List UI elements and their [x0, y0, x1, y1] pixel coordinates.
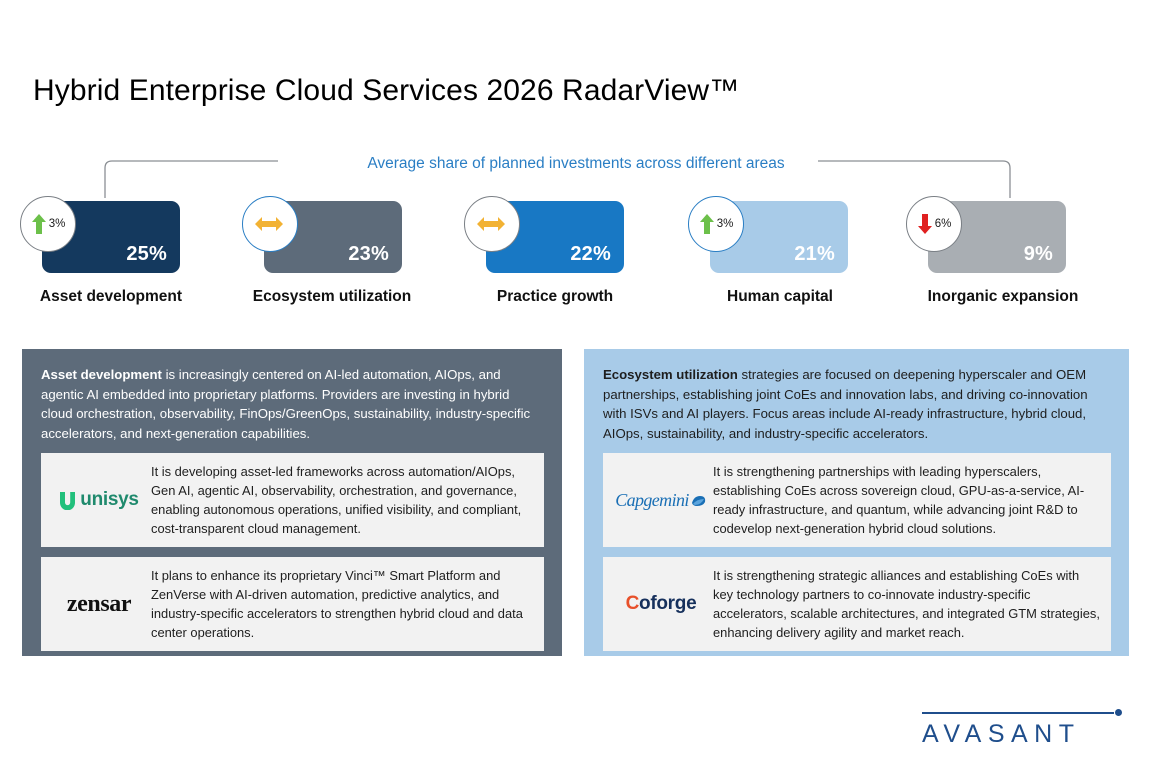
panel-heading: Asset development: [41, 367, 162, 382]
capgemini-logo: Capgemini: [609, 490, 713, 511]
provider-card-capgemini[interactable]: Capgemini It is strengthening partnershi…: [603, 453, 1111, 547]
provider-card-text: It is strengthening partnerships with le…: [713, 462, 1101, 538]
avasant-dot-icon: [1115, 709, 1122, 716]
arrow-down-icon: [917, 213, 933, 235]
unisys-logo: unisys: [47, 489, 151, 511]
avasant-logo: AVASANT: [912, 706, 1130, 754]
bar-value: 9%: [1024, 243, 1066, 273]
bracket-caption: Average share of planned investments acr…: [0, 155, 1152, 173]
unisys-mark-icon: [59, 491, 76, 510]
slide-canvas: Hybrid Enterprise Cloud Services 2026 Ra…: [0, 0, 1152, 768]
bar-label-asset-development: Asset development: [20, 288, 202, 306]
capgemini-swoosh-icon: [690, 493, 707, 508]
provider-card-zensar[interactable]: zensar It plans to enhance its proprieta…: [41, 557, 544, 651]
provider-card-text: It plans to enhance its proprietary Vinc…: [151, 566, 534, 642]
avasant-rule: [922, 712, 1114, 714]
page-title: Hybrid Enterprise Cloud Services 2026 Ra…: [33, 74, 739, 108]
arrow-up-icon: [699, 213, 715, 235]
bar-label-ecosystem-utilization: Ecosystem utilization: [241, 288, 423, 306]
panel-heading: Ecosystem utilization: [603, 367, 738, 382]
zensar-logo: zensar: [47, 591, 151, 618]
bar-value: 25%: [126, 243, 180, 273]
avasant-wordmark: AVASANT: [922, 720, 1122, 749]
bar-label-inorganic-expansion: Inorganic expansion: [912, 288, 1094, 306]
delta-badge-inorganic-expansion: 6%: [906, 196, 962, 252]
arrow-up-icon: [31, 213, 47, 235]
delta-label: 3%: [717, 218, 734, 230]
zensar-wordmark: zensar: [67, 591, 131, 618]
delta-label: 3%: [49, 218, 66, 230]
delta-badge-ecosystem-utilization: [242, 196, 298, 252]
bar-value: 23%: [348, 243, 402, 273]
provider-card-coforge[interactable]: Coforge It is strengthening strategic al…: [603, 557, 1111, 651]
arrow-left-right-icon: [254, 215, 284, 233]
coforge-logo: Coforge: [609, 593, 713, 615]
panel-intro: Ecosystem utilization strategies are foc…: [596, 361, 1117, 443]
panel-intro: Asset development is increasingly center…: [34, 361, 550, 443]
unisys-wordmark: unisys: [80, 489, 138, 511]
provider-card-text: It is developing asset-led frameworks ac…: [151, 462, 534, 538]
bar-label-human-capital: Human capital: [689, 288, 871, 306]
coforge-wordmark-c: C: [626, 593, 639, 614]
capgemini-wordmark: Capgemini: [615, 490, 689, 511]
provider-card-unisys[interactable]: unisys It is developing asset-led framew…: [41, 453, 544, 547]
bar-value: 21%: [794, 243, 848, 273]
panel-ecosystem-utilization: Ecosystem utilization strategies are foc…: [584, 349, 1129, 656]
delta-label: 6%: [935, 218, 952, 230]
provider-card-text: It is strengthening strategic alliances …: [713, 566, 1101, 642]
delta-badge-human-capital: 3%: [688, 196, 744, 252]
coforge-wordmark-rest: oforge: [639, 593, 696, 614]
delta-badge-asset-development: 3%: [20, 196, 76, 252]
investment-bar-chart: 25% 3% Asset development 23% Ecosystem u: [0, 196, 1152, 316]
arrow-left-right-icon: [476, 215, 506, 233]
bar-label-practice-growth: Practice growth: [464, 288, 646, 306]
panel-asset-development: Asset development is increasingly center…: [22, 349, 562, 656]
delta-badge-practice-growth: [464, 196, 520, 252]
bar-value: 22%: [570, 243, 624, 273]
